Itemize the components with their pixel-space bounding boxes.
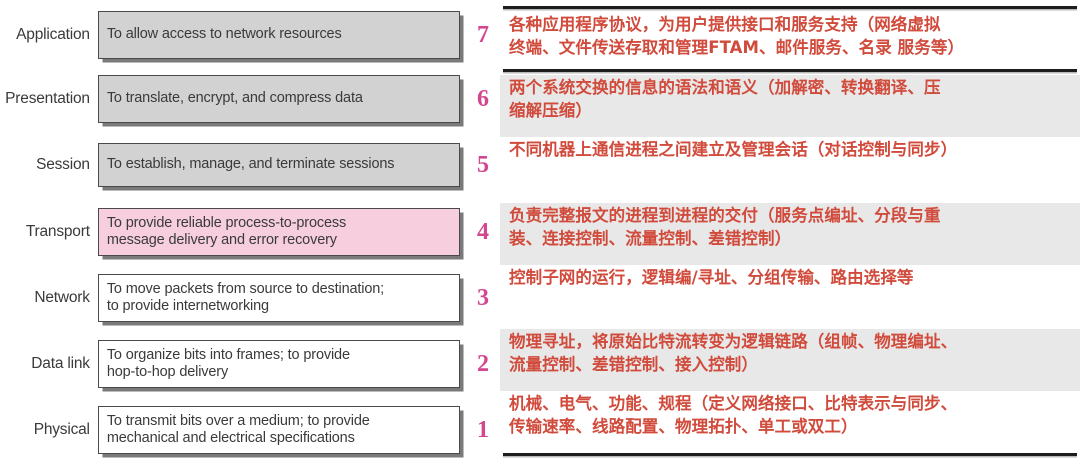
layer-function-box-presentation: To translate, encrypt, and compress data [98,75,460,123]
layer-label-data-link: Data link [0,355,98,373]
description-line2-physical: 传输速率、线路配置、物理拓扑、单工或双工） [509,416,1074,439]
description-row-session: 不同机器上通信进程之间建立及管理会话（对话控制与同步） [500,137,1080,203]
description-row-presentation: 两个系统交换的信息的语法和语义（加解密、转换翻译、压 缩解压缩） [500,75,1080,137]
layer-function-line2-physical: mechanical and electrical specifications [107,430,370,446]
layer-label-transport: Transport [0,223,98,241]
layer-function-line1-network: To move packets from source to destinati… [107,281,384,297]
description-row-transport: 负责完整报文的进程到进程的交付（服务点编址、分段与重 装、连接控制、流量控制、差… [500,203,1080,265]
layer-function-line2-data-link: hop-to-hop delivery [107,364,350,380]
description-row-physical: 机械、电气、功能、规程（定义网络接口、比特表示与同步、 传输速率、线路配置、物理… [500,391,1080,453]
layer-function-line1-application: To allow access to network resources [107,26,342,42]
layer-label-physical: Physical [0,421,98,439]
layer-function-line1-presentation: To translate, encrypt, and compress data [107,90,363,106]
layer-function-box-session: To establish, manage, and terminate sess… [98,143,460,187]
layer-function-box-application: To allow access to network resources [98,11,460,59]
layer-number-data-link: 2 [466,352,500,376]
description-line2-data-link: 流量控制、差错控制、接入控制） [509,354,1074,377]
layer-label-application: Application [0,26,98,44]
description-line1-presentation: 两个系统交换的信息的语法和语义（加解密、转换翻译、压 [509,77,1074,100]
layer-box-wrap-presentation: To translate, encrypt, and compress data [98,75,460,123]
layer-function-line1-physical: To transmit bits over a medium; to provi… [107,413,370,429]
layer-row-session: Session To establish, manage, and termin… [0,140,500,190]
layer-label-network: Network [0,289,98,307]
layer-function-line1-data-link: To organize bits into frames; to provide [107,347,350,363]
description-line1-network: 控制子网的运行，逻辑编/寻址、分组传输、路由选择等 [509,267,1074,290]
layer-label-presentation: Presentation [0,90,98,108]
layer-number-session: 5 [466,153,500,177]
layer-box-wrap-network: To move packets from source to destinati… [98,274,460,322]
layer-number-presentation: 6 [466,87,500,111]
description-row-data-link: 物理寻址，将原始比特流转变为逻辑链路（组帧、物理编址、 流量控制、差错控制、接入… [500,329,1080,391]
description-line2-transport: 装、连接控制、流量控制、差错控制） [509,228,1074,251]
description-line2-presentation: 缩解压缩） [509,100,1074,123]
layer-number-application: 7 [466,23,500,47]
layer-function-box-data-link: To organize bits into frames; to provide… [98,340,460,388]
description-line1-transport: 负责完整报文的进程到进程的交付（服务点编址、分段与重 [509,205,1074,228]
layer-row-network: Network To move packets from source to d… [0,271,500,325]
layer-function-line2-transport: message delivery and error recovery [107,232,346,248]
panel-divider-rule [503,69,1077,72]
osi-layer-stack: Application To allow access to network r… [0,0,500,465]
layer-function-line2-network: to provide internetworking [107,298,384,314]
layer-row-transport: Transport To provide reliable process-to… [0,205,500,259]
layer-function-box-transport: To provide reliable process-to-process m… [98,208,460,256]
description-row-network: 控制子网的运行，逻辑编/寻址、分组传输、路由选择等 [500,265,1080,329]
layer-row-application: Application To allow access to network r… [0,8,500,62]
layer-row-data-link: Data link To organize bits into frames; … [0,337,500,391]
layer-function-line1-transport: To provide reliable process-to-process [107,215,346,231]
layer-number-transport: 4 [466,220,500,244]
panel-top-rule [503,6,1077,9]
layer-row-physical: Physical To transmit bits over a medium;… [0,403,500,457]
panel-bottom-rule [503,453,1077,456]
description-row-application: 各种应用程序协议，为用户提供接口和服务支持（网络虚拟 终端、文件传送存取和管理F… [500,12,1080,70]
description-line2-application: 终端、文件传送存取和管理FTAM、邮件服务、名录 服务等） [509,37,1074,60]
layer-label-session: Session [0,156,98,174]
layer-function-box-physical: To transmit bits over a medium; to provi… [98,406,460,454]
layer-box-wrap-data-link: To organize bits into frames; to provide… [98,340,460,388]
layer-box-wrap-transport: To provide reliable process-to-process m… [98,208,460,256]
layer-box-wrap-physical: To transmit bits over a medium; to provi… [98,406,460,454]
layer-box-wrap-application: To allow access to network resources [98,11,460,59]
layer-function-line1-session: To establish, manage, and terminate sess… [107,156,395,172]
layer-number-network: 3 [466,286,500,310]
description-line1-session: 不同机器上通信进程之间建立及管理会话（对话控制与同步） [509,139,1074,162]
layer-row-presentation: Presentation To translate, encrypt, and … [0,72,500,126]
description-line1-data-link: 物理寻址，将原始比特流转变为逻辑链路（组帧、物理编址、 [509,331,1074,354]
description-line1-physical: 机械、电气、功能、规程（定义网络接口、比特表示与同步、 [509,393,1074,416]
layer-number-physical: 1 [466,418,500,442]
layer-function-box-network: To move packets from source to destinati… [98,274,460,322]
osi-description-panel: 各种应用程序协议，为用户提供接口和服务支持（网络虚拟 终端、文件传送存取和管理F… [500,0,1080,465]
layer-box-wrap-session: To establish, manage, and terminate sess… [98,143,460,187]
description-line1-application: 各种应用程序协议，为用户提供接口和服务支持（网络虚拟 [509,14,1074,37]
osi-model-diagram: Application To allow access to network r… [0,0,1080,465]
